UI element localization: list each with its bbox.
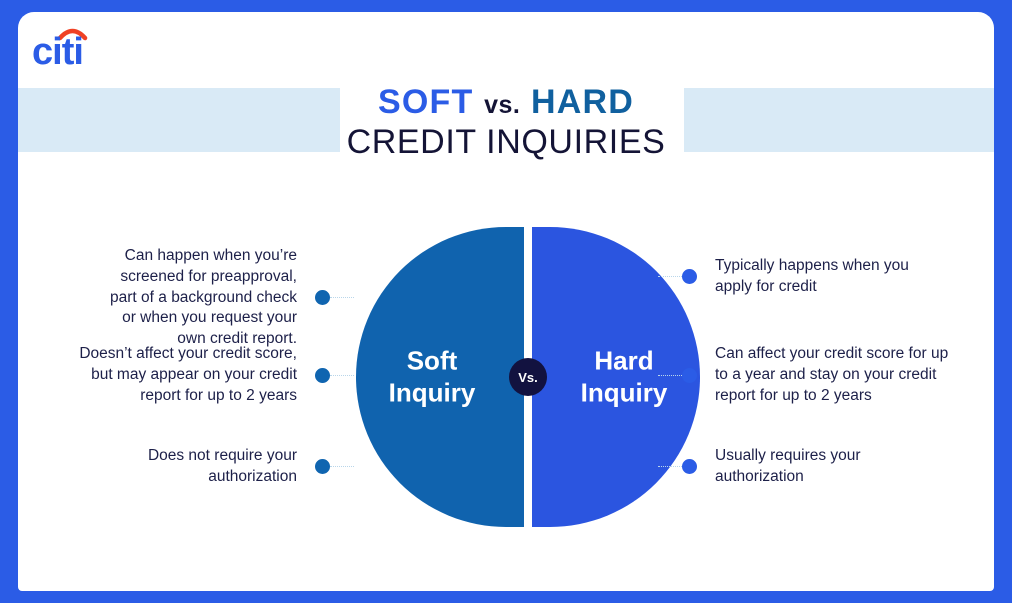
vs-badge: Vs.	[509, 358, 547, 396]
soft-point-row: Doesn’t affect your credit score, but ma…	[64, 344, 354, 406]
title-line-one: SOFT vs. HARD	[18, 84, 994, 121]
soft-inquiry-label: Soft Inquiry	[356, 345, 524, 408]
infographic-frame: citi SOFT vs. HARD CREDIT INQUIRIES Soft…	[0, 0, 1012, 603]
vs-badge-label: Vs.	[518, 370, 538, 385]
connector-line	[330, 297, 354, 298]
page-title: SOFT vs. HARD CREDIT INQUIRIES	[18, 84, 994, 160]
hard-point-text: Usually requires your authorization	[715, 446, 890, 488]
connector-line	[330, 375, 354, 376]
soft-point-text: Doesn’t affect your credit score, but ma…	[64, 344, 297, 406]
soft-point-row: Does not require your authorization	[125, 446, 354, 488]
svg-text:citi: citi	[32, 31, 83, 73]
hard-point-text: Typically happens when you apply for cre…	[715, 256, 915, 298]
soft-point-dot	[315, 290, 330, 305]
soft-label-line-2: Inquiry	[356, 377, 508, 409]
title-hard: HARD	[531, 83, 634, 121]
soft-point-row: Can happen when you’re screened for prea…	[92, 246, 354, 350]
hard-point-text: Can affect your credit score for up to a…	[715, 344, 955, 406]
title-line-two: CREDIT INQUIRIES	[18, 124, 994, 161]
split-circle-diagram: Soft Inquiry Hard Inquiry Vs.	[356, 227, 700, 527]
citi-logo-icon: citi	[32, 22, 122, 74]
soft-point-text: Does not require your authorization	[125, 446, 297, 488]
soft-inquiry-half: Soft Inquiry	[356, 227, 524, 527]
hard-point-dot	[682, 368, 697, 383]
connector-line	[330, 466, 354, 467]
hard-point-dot	[682, 269, 697, 284]
infographic-card: citi SOFT vs. HARD CREDIT INQUIRIES Soft…	[18, 12, 994, 591]
soft-label-line-1: Soft	[356, 345, 508, 377]
hard-point-row: Can affect your credit score for up to a…	[658, 344, 955, 406]
soft-point-text: Can happen when you’re screened for prea…	[92, 246, 297, 350]
connector-line	[658, 466, 682, 467]
hard-point-row: Typically happens when you apply for cre…	[658, 256, 915, 298]
title-soft: SOFT	[378, 83, 473, 121]
hard-point-row: Usually requires your authorization	[658, 446, 890, 488]
soft-point-dot	[315, 368, 330, 383]
connector-line	[658, 375, 682, 376]
citi-logo: citi	[32, 22, 122, 74]
title-vs: vs.	[484, 91, 520, 119]
soft-point-dot	[315, 459, 330, 474]
connector-line	[658, 276, 682, 277]
hard-point-dot	[682, 459, 697, 474]
